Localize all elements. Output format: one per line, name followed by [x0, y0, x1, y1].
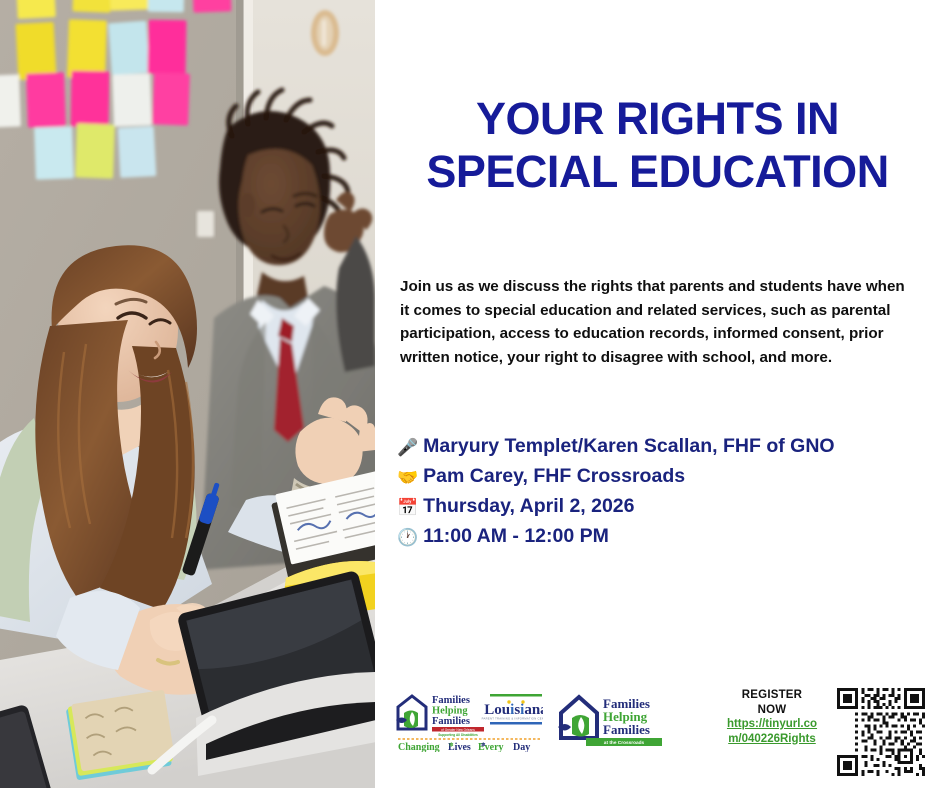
logo-fhf-crossroads: Families Helping Families at the Crossro…: [557, 690, 665, 752]
meeting-photo: [0, 0, 375, 788]
title-line-2: SPECIAL EDUCATION: [385, 145, 930, 198]
register-label-line1: REGISTER: [723, 688, 821, 703]
footer: Families Helping Families of Greater New…: [375, 678, 940, 788]
registration-link[interactable]: https://tinyurl.com/040226Rights: [723, 717, 821, 746]
svg-text:Helping: Helping: [432, 706, 468, 717]
page-title: YOUR RIGHTS IN SPECIAL EDUCATION: [385, 92, 930, 198]
svg-text:✽: ✽: [481, 742, 486, 749]
register-label-line2: NOW: [723, 703, 821, 718]
content-panel: YOUR RIGHTS IN SPECIAL EDUCATION Join us…: [375, 0, 940, 788]
svg-text:at the Crossroads: at the Crossroads: [604, 740, 645, 746]
handshake-icon: 🤝: [397, 464, 418, 492]
detail-row-presenter: 🤝Pam Carey, FHF Crossroads: [397, 462, 897, 492]
microphone-icon: 🎤: [397, 434, 418, 462]
detail-time-text: 11:00 AM - 12:00 PM: [423, 525, 609, 547]
event-details-list: 🎤Maryury Templet/Karen Scallan, FHF of G…: [397, 432, 897, 552]
svg-text:Families: Families: [603, 722, 650, 737]
svg-text:Changing: Changing: [398, 742, 440, 752]
detail-presenter-text: Pam Carey, FHF Crossroads: [423, 465, 685, 487]
qr-code[interactable]: [837, 688, 925, 776]
logo-row: Families Helping Families of Greater New…: [395, 690, 665, 752]
svg-text:Families: Families: [432, 695, 470, 706]
detail-date-text: Thursday, April 2, 2026: [423, 495, 634, 517]
title-line-1: YOUR RIGHTS IN: [385, 92, 930, 145]
calendar-icon: 📅: [397, 494, 418, 522]
flyer-canvas: YOUR RIGHTS IN SPECIAL EDUCATION Join us…: [0, 0, 940, 788]
detail-row-speakers: 🎤Maryury Templet/Karen Scallan, FHF of G…: [397, 432, 897, 462]
svg-text:of Greater New Orleans: of Greater New Orleans: [441, 728, 475, 732]
svg-text:✽: ✽: [449, 742, 454, 749]
svg-text:PARENT TRAINING & INFORMATION: PARENT TRAINING & INFORMATION CENTER: [482, 717, 543, 721]
detail-speakers-text: Maryury Templet/Karen Scallan, FHF of GN…: [423, 435, 834, 457]
detail-row-date: 📅Thursday, April 2, 2026: [397, 492, 897, 522]
register-block: REGISTER NOW https://tinyurl.com/040226R…: [723, 688, 821, 746]
svg-text:Day: Day: [513, 742, 530, 752]
description-text: Join us as we discuss the rights that pa…: [400, 275, 910, 369]
logo-fhf-gno: Families Helping Families of Greater New…: [395, 690, 543, 752]
svg-text:Louisiana: Louisiana: [484, 702, 543, 718]
clock-icon: 🕐: [397, 524, 418, 552]
detail-row-time: 🕐11:00 AM - 12:00 PM: [397, 522, 897, 552]
svg-text:Families: Families: [432, 716, 470, 727]
svg-text:Supporting All Disabilities: Supporting All Disabilities: [438, 733, 478, 737]
